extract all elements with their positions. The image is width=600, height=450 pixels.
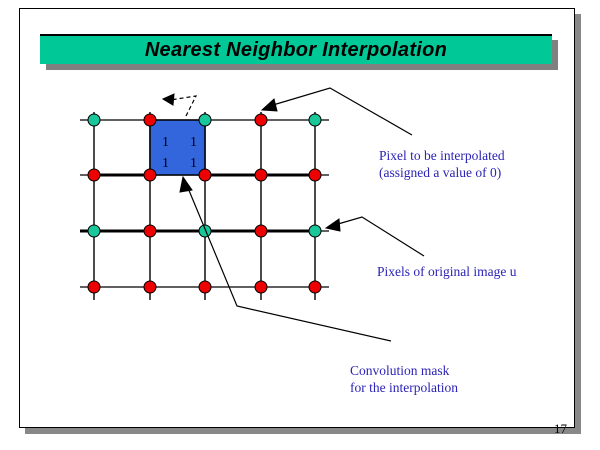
note-line: Pixel to be interpolated <box>379 147 505 164</box>
note-original-pixels: Pixels of original image u <box>377 263 516 280</box>
page-number: 17 <box>554 421 567 437</box>
grid-node <box>199 169 211 181</box>
leader-line-original-pixels <box>326 217 424 256</box>
arrowhead <box>326 219 340 231</box>
grid-node <box>309 281 321 293</box>
grid-node <box>88 169 100 181</box>
grid-node <box>199 225 211 237</box>
grid-node <box>88 114 100 126</box>
diagram-artwork: 1 1 1 1 <box>0 0 600 450</box>
grid-node <box>88 225 100 237</box>
grid-horizontal-lines-bold <box>80 175 315 231</box>
mask-value: 1 <box>190 156 197 171</box>
grid-node <box>255 169 267 181</box>
slide-canvas: Nearest Neighbor Interpolation <box>0 0 600 450</box>
leader-line-pixel-interpolated <box>262 88 412 135</box>
grid-node <box>144 281 156 293</box>
mask-value: 1 <box>190 135 197 150</box>
arrowhead <box>163 94 174 105</box>
note-line: (assigned a value of 0) <box>379 164 505 181</box>
grid-node <box>255 114 267 126</box>
grid-node <box>309 169 321 181</box>
dashed-mask-leader <box>163 94 196 116</box>
leader-line-convolution-mask <box>180 177 391 341</box>
arrowhead <box>262 99 277 111</box>
note-convolution-mask: Convolution mask for the interpolation <box>350 362 458 396</box>
note-pixel-interpolated: Pixel to be interpolated (assigned a val… <box>379 147 505 181</box>
grid-node <box>255 281 267 293</box>
note-line: Convolution mask <box>350 362 458 379</box>
grid-node <box>88 281 100 293</box>
grid-node <box>144 225 156 237</box>
grid-node <box>144 114 156 126</box>
grid-node <box>199 114 211 126</box>
note-line: Pixels of original image u <box>377 263 516 280</box>
mask-value: 1 <box>162 135 169 150</box>
grid-node <box>144 169 156 181</box>
grid-node <box>199 281 211 293</box>
note-line: for the interpolation <box>350 379 458 396</box>
grid-node <box>309 225 321 237</box>
mask-value: 1 <box>162 156 169 171</box>
grid-node <box>255 225 267 237</box>
arrowhead <box>180 177 192 192</box>
grid-node <box>309 114 321 126</box>
